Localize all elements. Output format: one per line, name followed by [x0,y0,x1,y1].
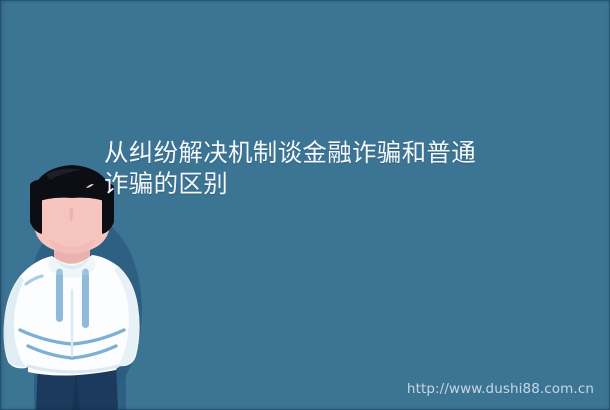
cover-title: 从纠纷解决机制谈金融诈骗和普通 诈骗的区别 [104,137,556,199]
title-line-2: 诈骗的区别 [104,168,556,199]
title-line-1: 从纠纷解决机制谈金融诈骗和普通 [104,137,556,168]
sideburn-left [30,190,42,234]
hoodie [4,255,140,376]
site-url-watermark: http://www.dushi88.com.cn [407,381,594,397]
article-cover-banner: 从纠纷解决机制谈金融诈骗和普通 诈骗的区别 http://www.dushi88… [0,0,610,410]
